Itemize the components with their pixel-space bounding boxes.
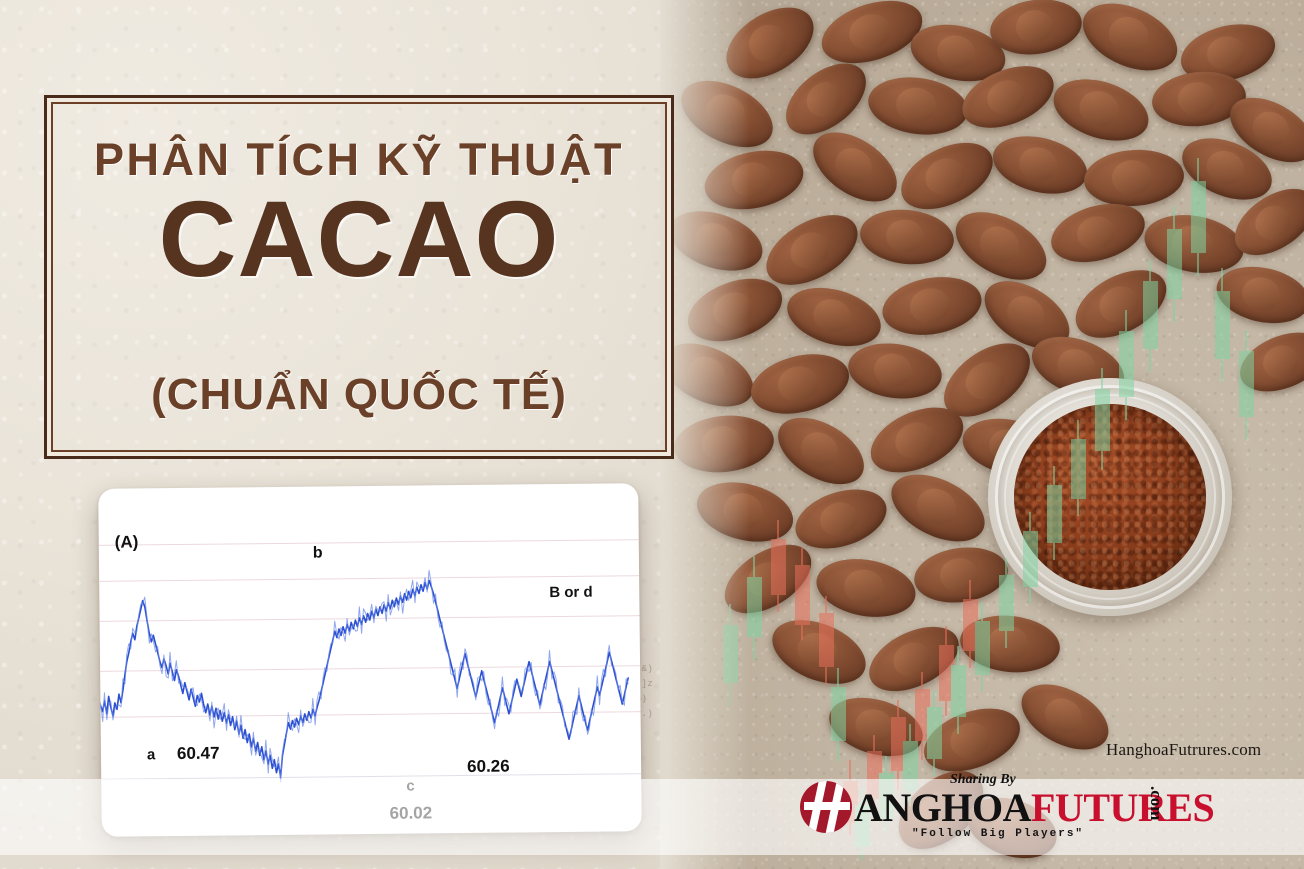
chart-value-6047: 60.47 [177, 744, 220, 764]
logo-dotcom: .com [1146, 786, 1166, 820]
logo-wordmark-red: FUTURES [1031, 785, 1214, 830]
hanghoa-h-logo-icon [800, 781, 852, 833]
cocoa-powder-bowl [988, 378, 1232, 616]
poster-canvas: (n7 (&)nn ]-]zS.(3B)( (36.)Dd)?B))) PHÂN… [0, 0, 1304, 869]
cocoa-powder [1014, 404, 1206, 590]
logo-tagline: "Follow Big Players" [912, 828, 1084, 840]
title-frame: PHÂN TÍCH KỸ THUẬT CACAO (CHUẨN QUỐC TẾ) [44, 95, 674, 459]
brand-logo[interactable]: Sharing By ANGHOAFUTURES .com "Follow Bi… [800, 772, 1230, 846]
title-headline: CACAO [47, 182, 671, 295]
cacao-photo [660, 0, 1304, 869]
chart-label-b: b [313, 544, 323, 562]
chart-label-panel-a: (A) [115, 532, 139, 552]
chart-label-a: a [147, 746, 156, 763]
logo-wordmark-black: ANGHOA [854, 785, 1031, 830]
site-url-text[interactable]: HanghoaFutrures.com [1106, 740, 1261, 760]
chart-label-b-or-d: B or d [549, 584, 593, 601]
chart-value-6026: 60.26 [467, 757, 510, 777]
title-subtitle: (CHUẨN QUỐC TẾ) [47, 370, 671, 420]
